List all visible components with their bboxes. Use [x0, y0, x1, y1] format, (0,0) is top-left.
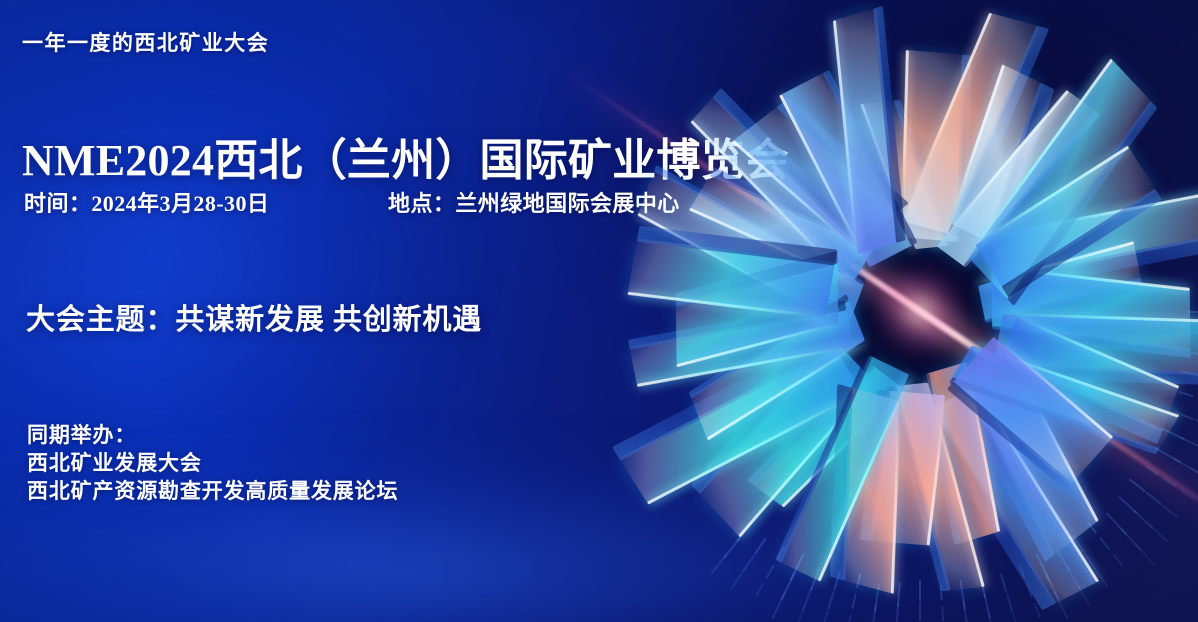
event-time: 时间：2024年3月28-30日	[24, 186, 269, 218]
poster-canvas: 一年一度的西北矿业大会 NME2024西北（兰州）国际矿业博览会 时间：2024…	[0, 0, 1198, 622]
concurrent-event-item: 西北矿产资源勘查开发高质量发展论坛	[27, 475, 398, 505]
event-venue: 地点：兰州绿地国际会展中心	[388, 186, 680, 218]
eyebrow-tagline: 一年一度的西北矿业大会	[22, 27, 269, 57]
concurrent-event-item: 西北矿业发展大会	[27, 447, 202, 477]
conference-theme: 大会主题：共谋新发展 共创新机遇	[26, 296, 482, 338]
concurrent-events-label: 同期举办：	[27, 419, 136, 449]
